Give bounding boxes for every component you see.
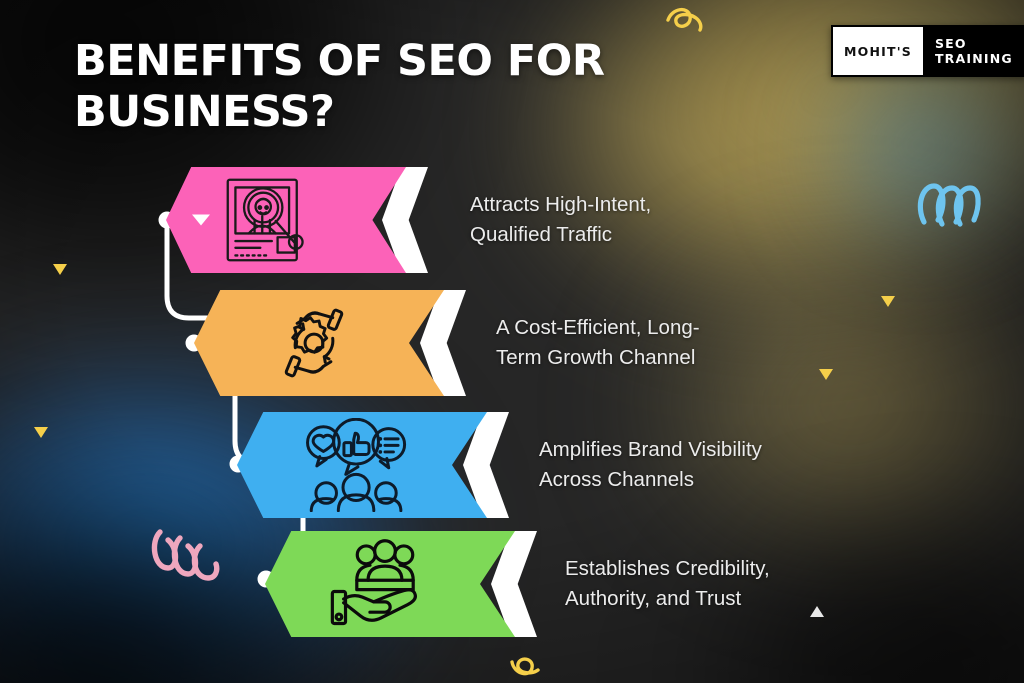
brand-logo: MOHIT'S SEO TRAINING	[831, 25, 1024, 77]
benefit-caption-1: Attracts High-Intent, Qualified Traffic	[470, 190, 651, 251]
people-speech-bubbles-icon	[301, 418, 413, 512]
benefit-caption-2: A Cost-Efficient, Long- Term Growth Chan…	[496, 313, 700, 374]
banner-2[interactable]	[194, 290, 444, 396]
banner-2-icon-wrap	[256, 290, 372, 396]
banner-1-arrow-icon	[192, 215, 210, 226]
banner-1-icon-wrap	[210, 167, 326, 273]
benefit-row-1[interactable]: Attracts High-Intent, Qualified Traffic	[166, 167, 651, 273]
benefit-row-3[interactable]: Amplifies Brand Visibility Across Channe…	[237, 412, 762, 518]
logo-right-text: SEO TRAINING	[923, 27, 1024, 75]
banner-4-icon-wrap	[323, 531, 447, 637]
profile-document-magnifier-icon	[220, 174, 316, 266]
banner-4[interactable]	[265, 531, 515, 637]
banner-3[interactable]	[237, 412, 487, 518]
hands-gear-cycle-icon	[267, 299, 361, 387]
benefit-caption-3: Amplifies Brand Visibility Across Channe…	[539, 435, 762, 496]
banner-1[interactable]	[166, 167, 406, 273]
infographic-canvas: BENEFITS OF SEO FOR BUSINESS? MOHIT'S SE…	[0, 0, 1024, 683]
page-title: BENEFITS OF SEO FOR BUSINESS?	[74, 36, 634, 137]
banner-3-icon-wrap	[295, 412, 419, 518]
hand-holding-people-icon	[330, 537, 440, 631]
benefit-row-2[interactable]: A Cost-Efficient, Long- Term Growth Chan…	[194, 290, 700, 396]
benefit-row-4[interactable]: Establishes Credibility, Authority, and …	[265, 531, 770, 637]
logo-left-text: MOHIT'S	[833, 27, 923, 75]
benefit-caption-4: Establishes Credibility, Authority, and …	[565, 554, 770, 615]
